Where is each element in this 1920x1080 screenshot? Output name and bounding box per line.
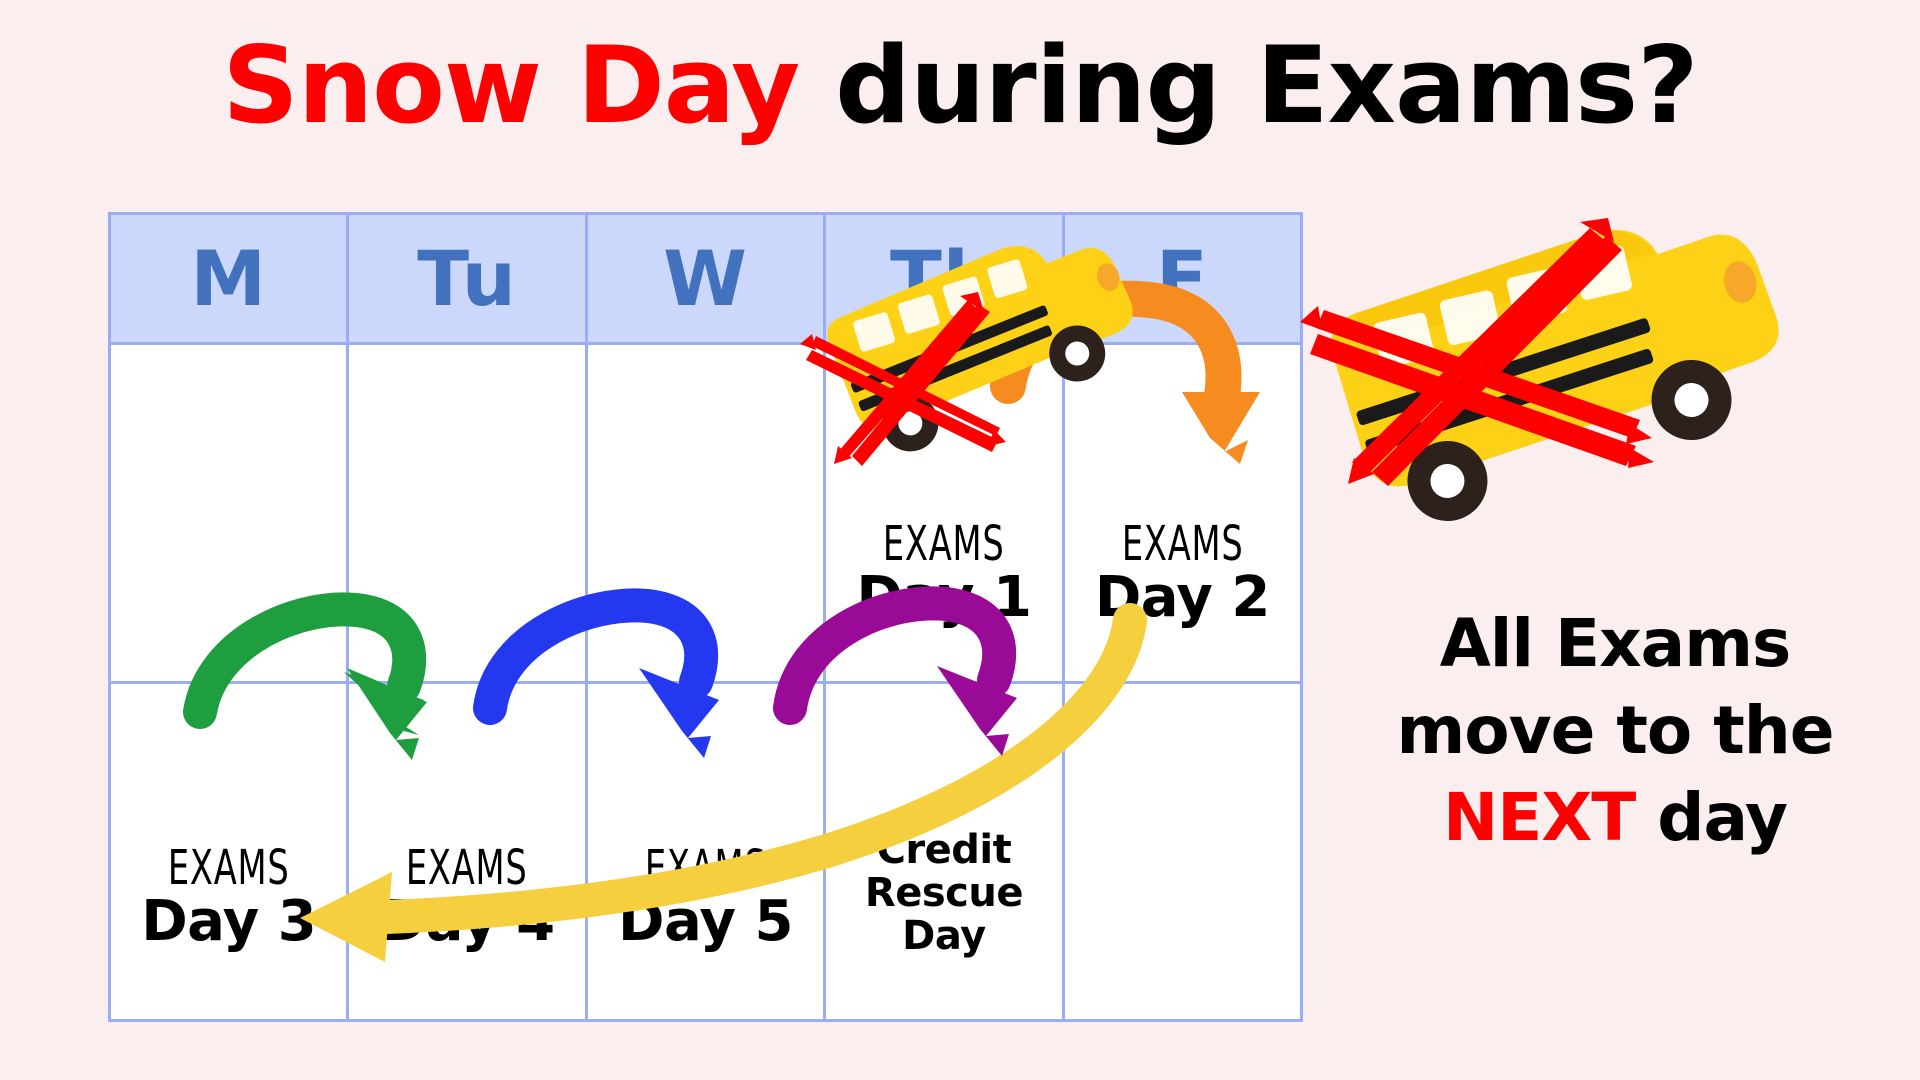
- exam-label-day2: EXAMS Day 2: [1065, 520, 1300, 628]
- day-header-label: Tu: [417, 241, 517, 317]
- day-header-label: W: [663, 241, 748, 317]
- title-highlight: Snow Day: [222, 24, 799, 147]
- day-header-tuesday: Tu: [349, 215, 587, 342]
- credit-line-1: Credit: [826, 829, 1061, 872]
- cell-top-thursday: EXAMS Day 1: [826, 345, 1064, 681]
- day-header-monday: M: [111, 215, 349, 342]
- calendar-header-row: M Tu W Th F: [111, 215, 1300, 345]
- crossed-out-school-bus-large: [1319, 198, 1804, 539]
- exam-label-day5: EXAMS Day 5: [588, 844, 823, 952]
- exam-day-number: Day 2: [1065, 568, 1300, 628]
- cell-top-monday: [111, 345, 349, 681]
- next-rest: day: [1635, 779, 1787, 856]
- day-header-label: M: [190, 241, 267, 317]
- exam-day-number: Day 3: [111, 892, 346, 952]
- calendar-week-row-2: EXAMS Day 3 EXAMS Day 4 EXAMS Day 5: [111, 684, 1300, 1023]
- day-header-label: Th: [890, 241, 998, 317]
- next-highlight: NEXT: [1443, 779, 1635, 856]
- exam-day-number: Day 4: [349, 892, 584, 952]
- cell-top-tuesday: [349, 345, 587, 681]
- right-line-2: move to the: [1330, 687, 1900, 774]
- exams-word: EXAMS: [852, 520, 1036, 568]
- credit-line-3: Day: [826, 915, 1061, 958]
- credit-line-2: Rescue: [826, 872, 1061, 915]
- exam-label-day1: EXAMS Day 1: [826, 520, 1061, 628]
- day-header-thursday: Th: [826, 215, 1064, 342]
- right-line-3: NEXT day: [1330, 774, 1900, 861]
- cell-bottom-wednesday: EXAMS Day 5: [588, 684, 826, 1023]
- day-header-friday: F: [1065, 215, 1300, 342]
- exam-day-number: Day 1: [826, 568, 1061, 628]
- cell-top-wednesday: [588, 345, 826, 681]
- cell-bottom-thursday: Credit Rescue Day: [826, 684, 1064, 1023]
- cell-top-friday: EXAMS Day 2: [1065, 345, 1300, 681]
- infographic-canvas: Snow Day during Exams? M Tu W Th F EXAMS…: [0, 0, 1920, 1080]
- cell-bottom-monday: EXAMS Day 3: [111, 684, 349, 1023]
- exam-day-number: Day 5: [588, 892, 823, 952]
- day-header-label: F: [1156, 241, 1209, 317]
- exams-word: EXAMS: [375, 844, 559, 892]
- exams-word: EXAMS: [1091, 520, 1275, 568]
- exam-label-day3: EXAMS Day 3: [111, 844, 346, 952]
- credit-rescue-day-label: Credit Rescue Day: [826, 829, 1061, 959]
- calendar-week-row-1: EXAMS Day 1 EXAMS Day 2: [111, 345, 1300, 684]
- cell-bottom-friday: [1065, 684, 1300, 1023]
- right-line-1: All Exams: [1330, 600, 1900, 687]
- cell-bottom-tuesday: EXAMS Day 4: [349, 684, 587, 1023]
- page-title: Snow Day during Exams?: [0, 30, 1920, 141]
- exams-word: EXAMS: [137, 844, 321, 892]
- red-cross-out-large: [1300, 218, 1654, 486]
- right-panel-message: All Exams move to the NEXT day: [1330, 600, 1900, 861]
- title-rest: during Exams?: [799, 24, 1697, 147]
- day-header-wednesday: W: [588, 215, 826, 342]
- calendar-grid: M Tu W Th F EXAMS Day 1 EXAMS: [108, 212, 1303, 1022]
- exams-word: EXAMS: [614, 844, 798, 892]
- exam-label-day4: EXAMS Day 4: [349, 844, 584, 952]
- calendar-body: EXAMS Day 1 EXAMS Day 2 EXAMS Day 3: [111, 345, 1300, 1022]
